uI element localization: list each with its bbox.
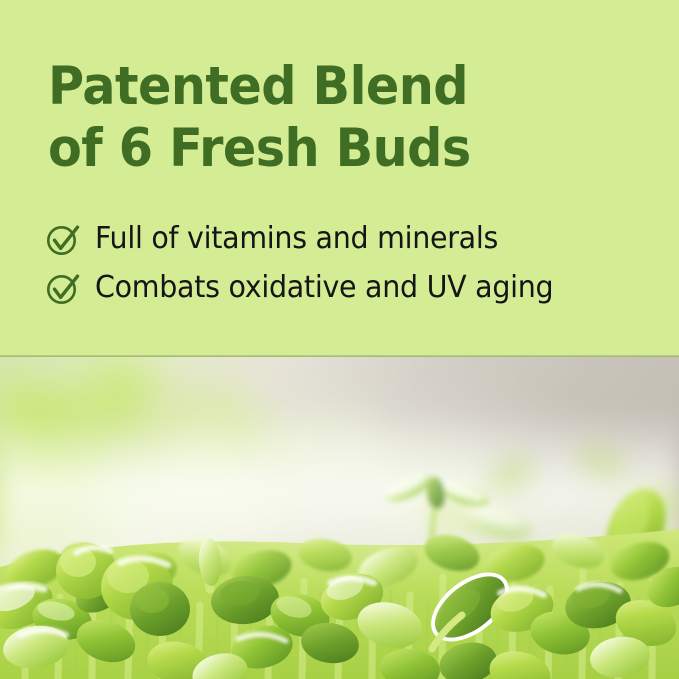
panel-photo-divider bbox=[0, 355, 679, 357]
list-item: Full of vitamins and minerals bbox=[44, 214, 659, 263]
list-item: Combats oxidative and UV aging bbox=[44, 263, 659, 312]
page-title: Patented Blend of 6 Fresh Buds bbox=[48, 56, 606, 180]
check-circle-icon bbox=[44, 270, 95, 306]
check-circle-icon bbox=[44, 221, 95, 257]
benefit-list: Full of vitamins and minerals Combats ox… bbox=[44, 214, 659, 312]
list-item-label: Full of vitamins and minerals bbox=[95, 221, 498, 257]
list-item-label: Combats oxidative and UV aging bbox=[95, 270, 553, 306]
headline-panel: Patented Blend of 6 Fresh Buds Full of v… bbox=[0, 0, 679, 357]
sprouts-photo bbox=[0, 357, 679, 679]
product-infographic-canvas: Patented Blend of 6 Fresh Buds Full of v… bbox=[0, 0, 679, 679]
